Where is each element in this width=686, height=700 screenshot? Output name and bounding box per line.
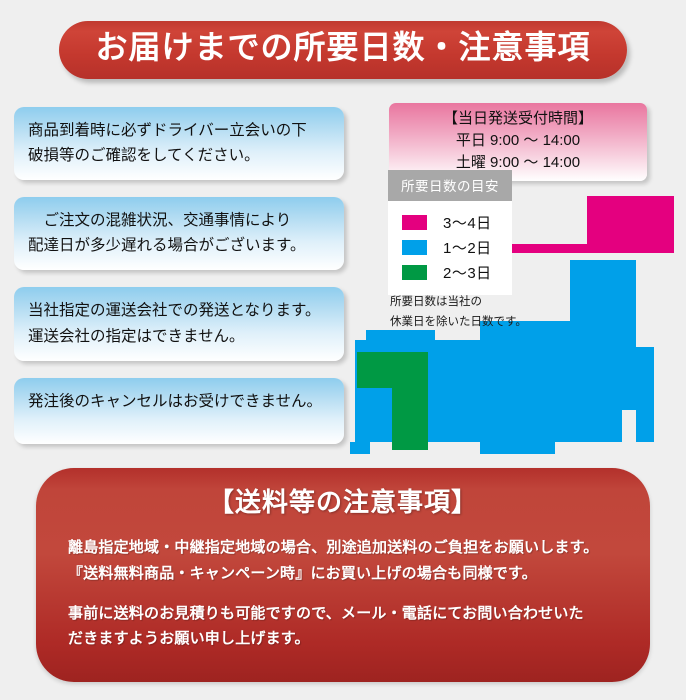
notice-line: 配達日が多少遅れる場合がございます。 — [28, 233, 332, 258]
notice-item: 発注後のキャンセルはお受けできません。 — [14, 378, 344, 444]
legend-item-3to4days: 3～4日 — [388, 210, 512, 235]
legend-items: 3～4日 1～2日 2～3日 — [388, 201, 512, 295]
notice-line: 運送会社の指定はできません。 — [28, 324, 332, 349]
legend-title: 所要日数の目安 — [388, 170, 512, 201]
legend-swatch-icon — [402, 265, 427, 280]
map-legend: 所要日数の目安 3～4日 1～2日 2～3日 — [388, 170, 512, 295]
shipping-fee-paragraph: 離島指定地域・中継指定地域の場合、別途追加送料のご負担をお願いします。 『送料無… — [68, 535, 628, 587]
notice-list: 商品到着時に必ずドライバー立会いの下 破損等のご確認をしてください。 ご注文の混… — [14, 107, 344, 461]
notice-line: 破損等のご確認をしてください。 — [28, 143, 332, 168]
legend-item-2to3days: 2～3日 — [388, 260, 512, 285]
notice-item: 当社指定の運送会社での発送となります。 運送会社の指定はできません。 — [14, 287, 344, 360]
legend-label: 2～3日 — [443, 262, 492, 283]
legend-note-line: 所要日数は当社の — [390, 292, 527, 312]
page-title: お届けまでの所要日数・注意事項 — [59, 21, 626, 78]
legend-note-line: 休業日を除いた日数です。 — [390, 312, 527, 332]
legend-label: 3～4日 — [443, 212, 492, 233]
notice-item: 商品到着時に必ずドライバー立会いの下 破損等のご確認をしてください。 — [14, 107, 344, 180]
shipping-fee-line: 『送料無料商品・キャンペーン時』にお買い上げの場合も同様です。 — [68, 561, 628, 587]
hours-title: 【当日発送受付時間】 — [399, 108, 637, 130]
map-region-1to2days-island — [438, 358, 510, 428]
legend-swatch-icon — [402, 215, 427, 230]
notice-line: 当社指定の運送会社での発送となります。 — [28, 298, 332, 323]
hours-weekday: 平日 9:00 ～ 14:00 — [399, 130, 637, 152]
legend-note: 所要日数は当社の 休業日を除いた日数です。 — [390, 292, 527, 332]
notice-line: ご注文の混雑状況、交通事情により — [28, 208, 332, 233]
notice-line: 発注後のキャンセルはお受けできません。 — [28, 389, 332, 414]
map-region-3to4days — [484, 196, 674, 253]
notice-line: 商品到着時に必ずドライバー立会いの下 — [28, 118, 332, 143]
legend-label: 1～2日 — [443, 237, 492, 258]
page-title-banner: お届けまでの所要日数・注意事項 — [0, 0, 686, 100]
shipping-fee-paragraph: 事前に送料のお見積りも可能ですので、メール・電話にてお問い合わせいた だきますよ… — [68, 601, 628, 653]
shipping-fee-line: 事前に送料のお見積りも可能ですので、メール・電話にてお問い合わせいた — [68, 601, 628, 627]
notice-item: ご注文の混雑状況、交通事情により 配達日が多少遅れる場合がございます。 — [14, 197, 344, 270]
shipping-fee-title: 【送料等の注意事項】 — [58, 482, 628, 519]
shipping-fee-line: だきますようお願い申し上げます。 — [68, 626, 628, 652]
legend-item-1to2days: 1～2日 — [388, 235, 512, 260]
shipping-fee-panel: 【送料等の注意事項】 離島指定地域・中継指定地域の場合、別途追加送料のご負担をお… — [36, 468, 650, 682]
legend-swatch-icon — [402, 240, 427, 255]
shipping-fee-line: 離島指定地域・中継指定地域の場合、別途追加送料のご負担をお願いします。 — [68, 535, 628, 561]
